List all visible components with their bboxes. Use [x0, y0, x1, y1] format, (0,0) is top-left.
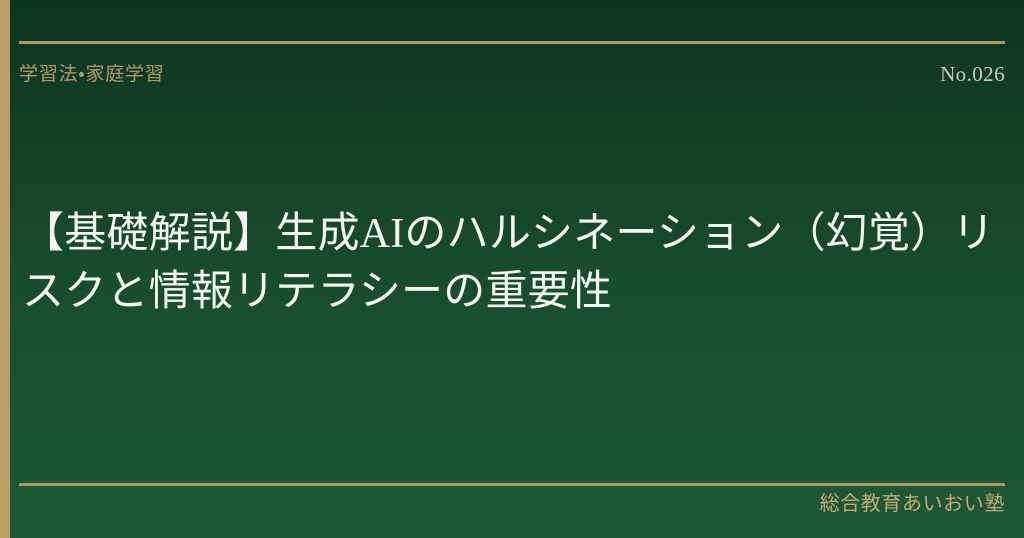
issue-number-badge: No.026 [940, 64, 1005, 85]
category-label: 学習法・家庭学習 [19, 65, 165, 84]
title-card: 学習法・家庭学習 No.026 【基礎解説】生成AIのハルシネーション（幻覚）リ… [0, 0, 1024, 538]
page-title: 【基礎解説】生成AIのハルシネーション（幻覚）リスクと情報リテラシーの重要性 [22, 206, 1024, 322]
top-divider-rule [19, 41, 1005, 44]
title-block: 【基礎解説】生成AIのハルシネーション（幻覚）リスクと情報リテラシーの重要性 [22, 206, 1024, 322]
card-footer: 総合教育あいおい塾 [19, 494, 1005, 514]
brand-signature: 総合教育あいおい塾 [820, 494, 1005, 514]
bottom-divider-rule [19, 483, 1005, 486]
left-accent-bar [0, 0, 10, 538]
card-header: 学習法・家庭学習 No.026 [19, 58, 1005, 90]
